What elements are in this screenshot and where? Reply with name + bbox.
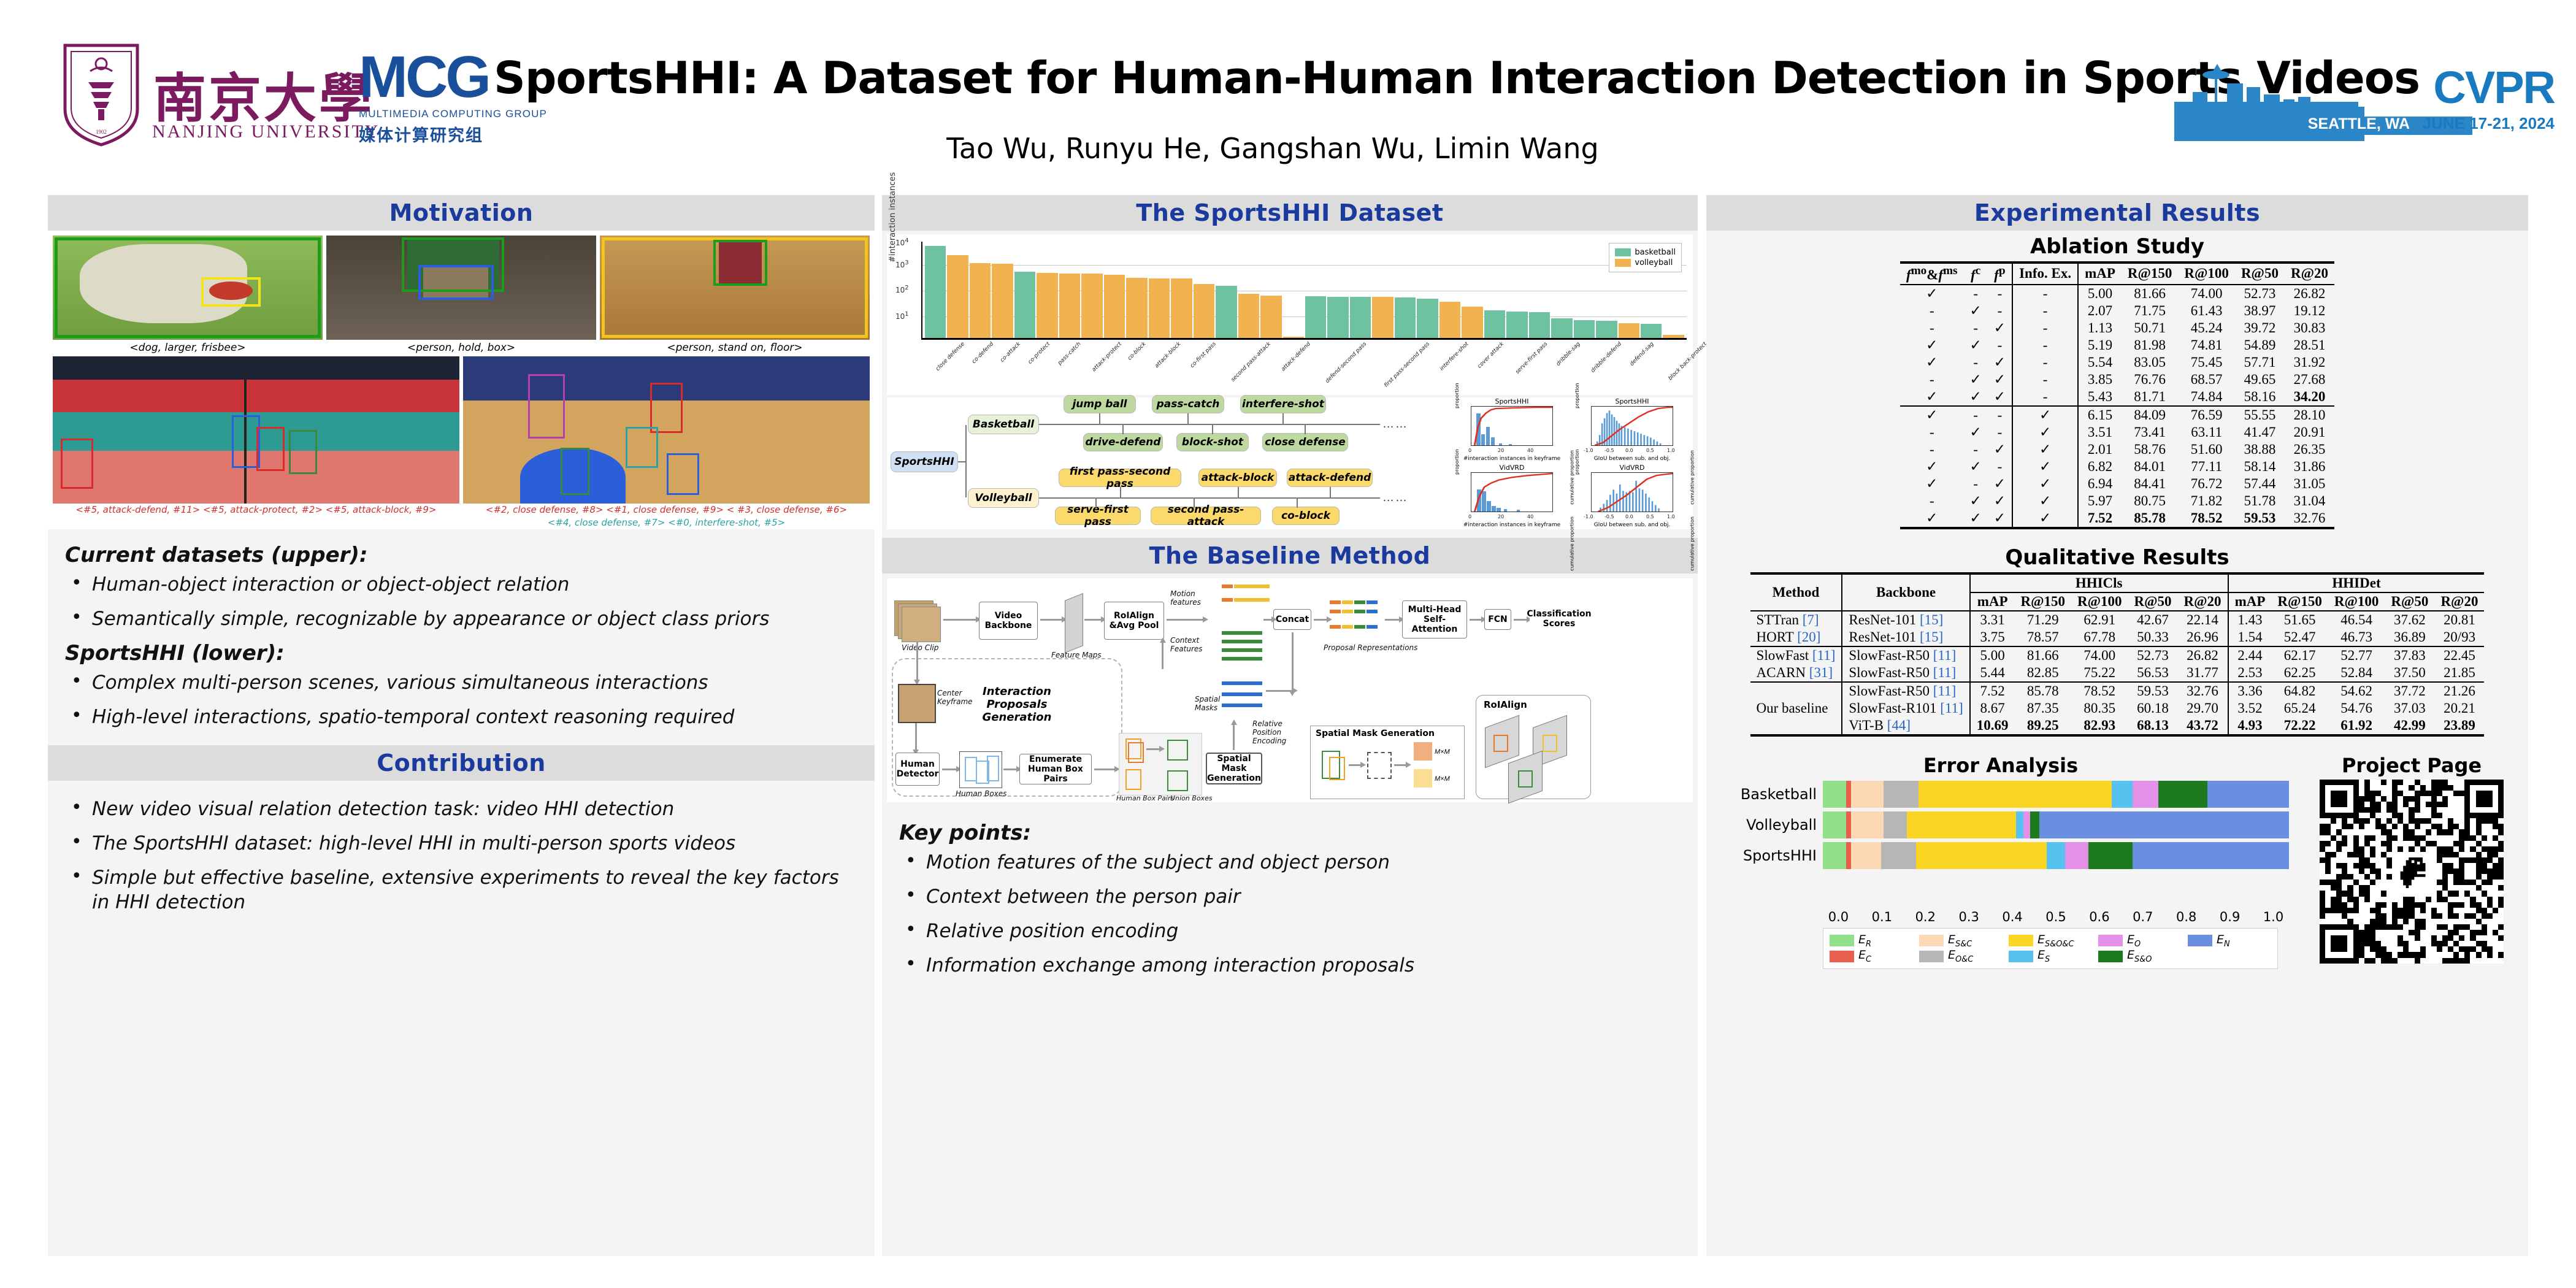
ablation-cell-2-4: 1.13	[2078, 320, 2122, 337]
ablation-row-13: ✓✓✓✓7.5285.7878.5259.5332.76	[1900, 510, 2334, 528]
contribution-bullet-1: The SportsHHI dataset: high-level HHI in…	[65, 831, 857, 856]
mini-plot-title-1: SportsHHI	[1575, 397, 1689, 405]
error-legend-label-E_S&C: ES&C	[1948, 933, 1972, 949]
ablation-col-head-6: R@100	[2178, 263, 2235, 285]
qual-det-4-1: 64.82	[2271, 682, 2328, 700]
error-legend-label-E_N: EN	[2217, 933, 2230, 949]
qual-row-1: HORT [20]ResNet-101 [15]3.7578.5767.7850…	[1750, 629, 2485, 646]
bbox-frisbee	[201, 277, 261, 307]
bbox-box	[418, 265, 494, 301]
bar-30	[1596, 321, 1617, 338]
error-legend-swatch-E_C	[1830, 951, 1854, 962]
ablation-cell-6-8: 34.20	[2285, 388, 2334, 406]
qual-sub-det-3: R@50	[2385, 592, 2434, 611]
qual-cls-4-0: 7.52	[1970, 682, 2015, 700]
ablation-cell-10-3: ✓	[2012, 458, 2078, 475]
error-analysis-title: Error Analysis	[1706, 754, 2295, 777]
ablation-row-5: -✓✓-3.8576.7668.5749.6527.68	[1900, 371, 2334, 388]
error-xtick-5: 0.5	[2034, 910, 2078, 924]
error-legend-item-0-3: EO	[2098, 933, 2182, 949]
ablation-cell-12-7: 51.78	[2235, 493, 2285, 510]
mini-plot-vidvrd-giou: VidVRD proportion cumulative proportion	[1575, 465, 1689, 527]
error-segment-0-3	[1884, 781, 1919, 808]
error-legend-swatch-E_R	[1830, 935, 1854, 946]
qual-det-3-1: 62.25	[2271, 664, 2328, 682]
ablation-cell-7-4: 6.15	[2078, 406, 2122, 424]
key-points-bullet-2: Relative position encoding	[899, 919, 1681, 943]
bbox-player-5	[256, 427, 285, 471]
context-feature-stack	[1222, 631, 1262, 662]
error-xtick-10: 1.0	[2252, 910, 2295, 924]
qual-det-0-3: 37.62	[2385, 611, 2434, 629]
taxonomy-leaf-vb-2: attack-defend	[1287, 469, 1373, 487]
qual-sub-det-4: R@20	[2434, 592, 2484, 611]
error-stacked-bar-1	[1823, 811, 2289, 838]
bar-8	[1104, 275, 1125, 338]
bbox-player-11	[61, 439, 93, 489]
qual-cls-6-4: 43.72	[2178, 717, 2228, 735]
human-boxes-thumbnail	[959, 751, 1002, 788]
mini-plot-xlabel-2: #interaction instances in keyframe	[1455, 522, 1569, 528]
error-segment-0-2	[1851, 781, 1884, 808]
error-legend-item-0-0: ER	[1830, 933, 1913, 949]
bar-17	[1305, 296, 1326, 338]
mini-plot-ylabel2-1: cumulative proportion	[1690, 450, 1695, 505]
ablation-cell-4-2: ✓	[1988, 354, 2012, 371]
ablation-col-head-5: R@150	[2122, 263, 2179, 285]
bar-7	[1081, 274, 1102, 338]
basketball-court-image	[463, 356, 870, 504]
ablation-cell-6-1: ✓	[1964, 388, 1988, 406]
mini-plot-area-3	[1591, 472, 1673, 512]
ablation-cell-1-6: 61.43	[2178, 302, 2235, 320]
section-title-motivation: Motivation	[389, 199, 534, 226]
distribution-mini-plots: SportsHHI proportion cumulative proporti…	[1455, 399, 1689, 527]
error-legend-swatch-E_S&O	[2098, 951, 2123, 962]
error-analysis-block: Error Analysis BasketballVolleyballSport…	[1706, 750, 2295, 970]
roialign-avgpool-box: RoIAlign &Avg Pool	[1104, 602, 1164, 640]
ablation-cell-9-8: 26.35	[2285, 441, 2334, 458]
ablation-cell-3-3: -	[2012, 337, 2078, 354]
ablation-cell-7-2: -	[1988, 406, 2012, 424]
qual-det-6-2: 61.92	[2328, 717, 2385, 735]
mini-plot-ylabel2-2: cumulative proportion	[1570, 516, 1575, 571]
error-legend-item-1-2: ES	[2009, 948, 2092, 964]
roialign-detail-panel: RoIAlign	[1476, 695, 1591, 799]
qual-cls-1-3: 50.33	[2128, 629, 2178, 646]
ablation-cell-13-7: 59.53	[2235, 510, 2285, 528]
qual-method-2: SlowFast [11]	[1750, 646, 1842, 664]
qual-det-5-2: 54.76	[2328, 700, 2385, 717]
motivation-image-box: <person, hold, box>	[326, 236, 596, 356]
taxonomy-leaf-bk-1: pass-catch	[1152, 395, 1224, 413]
page-title: SportsHHI: A Dataset for Human-Human Int…	[494, 52, 2052, 104]
ablation-cell-4-3: -	[2012, 354, 2078, 371]
error-segment-1-7	[2030, 811, 2039, 838]
qual-det-6-4: 23.89	[2434, 717, 2484, 735]
qual-sub-cls-3: R@50	[2128, 592, 2178, 611]
motivation-caption-1: <person, hold, box>	[326, 340, 596, 356]
ablation-cell-4-0: ✓	[1900, 354, 1963, 371]
mini-plot-sportshhi-instances: SportsHHI proportion cumulative proporti…	[1455, 399, 1569, 461]
bar-12	[1194, 284, 1214, 338]
bar-15	[1260, 296, 1281, 338]
qual-backbone-2: SlowFast-R50 [11]	[1842, 646, 1969, 664]
ablation-cell-2-8: 30.83	[2285, 320, 2334, 337]
ablation-cell-10-7: 58.14	[2235, 458, 2285, 475]
qual-det-3-0: 2.53	[2228, 664, 2272, 682]
qual-det-5-4: 20.21	[2434, 700, 2484, 717]
mini-plot-ylabel-2: proportion	[1454, 449, 1460, 475]
mcg-fullname: MULTIMEDIA COMPUTING GROUP	[359, 108, 547, 120]
qual-det-1-3: 36.89	[2385, 629, 2434, 646]
mini-plot-title-3: VidVRD	[1575, 464, 1689, 472]
qual-det-5-3: 37.03	[2385, 700, 2434, 717]
bar-2	[970, 263, 991, 338]
bar-16	[1283, 337, 1304, 338]
section-header-contribution: Contribution	[48, 745, 875, 781]
error-segment-0-5	[2112, 781, 2133, 808]
qual-method-4	[1750, 682, 1842, 700]
qual-cls-0-2: 62.91	[2071, 611, 2128, 629]
label-human-boxes: Human Boxes	[956, 789, 1006, 798]
ablation-cell-7-0: ✓	[1900, 406, 1963, 424]
ablation-cell-11-0: ✓	[1900, 475, 1963, 493]
mini-plot-area-2	[1471, 472, 1553, 512]
ablation-cell-12-1: ✓	[1964, 493, 1988, 510]
label-union-boxes: Union Boxes	[1170, 794, 1213, 802]
box-pairs-panel	[1119, 733, 1202, 795]
ablation-cell-11-1: -	[1964, 475, 1988, 493]
nanjing-university-shield-icon: 1902	[61, 42, 141, 147]
error-xtick-1: 0.1	[1860, 910, 1904, 924]
qual-cls-6-0: 10.69	[1970, 717, 2015, 735]
qual-det-2-1: 62.17	[2271, 646, 2328, 664]
column-left: Motivation <dog, larger, frisbee>	[48, 195, 875, 1256]
legend-item-volleyball: volleyball	[1615, 258, 1676, 267]
qual-det-4-2: 54.62	[2328, 682, 2385, 700]
ablation-cell-11-6: 76.72	[2178, 475, 2235, 493]
motivation-image-dog: <dog, larger, frisbee>	[53, 236, 323, 356]
ablation-cell-6-6: 74.84	[2178, 388, 2235, 406]
bar-0	[925, 246, 946, 338]
ablation-cell-13-3: ✓	[2012, 510, 2078, 528]
error-legend-item-1-3: ES&O	[2098, 948, 2182, 964]
motivation-bullet-current-1: Semantically simple, recognizable by app…	[65, 607, 857, 631]
ablation-cell-5-8: 27.68	[2285, 371, 2334, 388]
bar-10	[1149, 278, 1170, 338]
ablation-cell-10-8: 31.86	[2285, 458, 2334, 475]
ablation-cell-0-1: -	[1964, 285, 1988, 302]
ablation-cell-9-5: 58.76	[2122, 441, 2179, 458]
qual-det-2-0: 2.44	[2228, 646, 2272, 664]
error-legend-row-0: ERES&CES&O&CEOEN	[1830, 933, 2271, 949]
error-segment-2-7	[2088, 842, 2133, 869]
key-points-bullet-3: Information exchange among interaction p…	[899, 953, 1681, 978]
ablation-cell-7-3: ✓	[2012, 406, 2078, 424]
qualitative-results-title: Qualitative Results	[1706, 545, 2528, 570]
label-video-clip: Video Clip	[902, 643, 938, 652]
ablation-cell-9-1: -	[1964, 441, 1988, 458]
qual-det-0-2: 46.54	[2328, 611, 2385, 629]
multihead-self-attention-box: Multi-Head Self-Attention	[1402, 600, 1467, 638]
ablation-cell-8-4: 3.51	[2078, 424, 2122, 441]
mini-plot-ylabel-0: proportion	[1454, 383, 1460, 408]
ablation-cell-10-4: 6.82	[2078, 458, 2122, 475]
label-relative-position-encoding: Relative Position Encoding	[1252, 719, 1303, 745]
human-detector-box: Human Detector	[895, 753, 940, 786]
qual-sub-cls-4: R@20	[2178, 592, 2228, 611]
error-legend-label-E_R: ER	[1858, 933, 1871, 949]
ablation-cell-5-0: -	[1900, 371, 1963, 388]
ablation-cell-2-2: ✓	[1988, 320, 2012, 337]
key-points-lead: Key points:	[899, 821, 1681, 845]
qual-cls-6-2: 82.93	[2071, 717, 2128, 735]
bar-9	[1126, 278, 1147, 338]
ablation-cell-3-8: 28.51	[2285, 337, 2334, 354]
qualitative-results-table: MethodBackboneHHIClsHHIDetmAPR@150R@100R…	[1750, 572, 2485, 737]
qual-backbone-4: SlowFast-R50 [11]	[1842, 682, 1969, 700]
key-points-bullet-0: Motion features of the subject and objec…	[899, 850, 1681, 875]
poster-root: 1902 南京大學 NANJING UNIVERSITY MCG MULTIME…	[0, 0, 2576, 1288]
qual-cls-4-4: 32.76	[2178, 682, 2228, 700]
mini-plot-area-0	[1471, 406, 1553, 446]
qual-head-method: Method	[1750, 573, 1842, 611]
taxonomy-leaf-bk-4: block-shot	[1176, 433, 1249, 451]
ablation-cell-11-2: ✓	[1988, 475, 2012, 493]
nanjing-university-english-name: NANJING UNIVERSITY	[152, 121, 380, 142]
bar-32	[1641, 324, 1662, 338]
ablation-cell-0-7: 52.73	[2235, 285, 2285, 302]
key-points-block: Key points: Motion features of the subje…	[882, 807, 1698, 994]
error-legend-item-0-4: EN	[2188, 933, 2271, 949]
qual-method-3: ACARN [31]	[1750, 664, 1842, 682]
error-segment-1-8	[2039, 811, 2289, 838]
taxonomy-leaf-vb-1: attack-block	[1198, 469, 1277, 487]
bar-chart-ylabel: #interaction instances	[888, 172, 897, 263]
ablation-cell-8-2: -	[1988, 424, 2012, 441]
error-legend-label-E_S: ES	[2037, 948, 2050, 964]
mini-plot-xlabel-1: GIoU between sub. and obj.	[1575, 456, 1689, 462]
project-page-qr-code[interactable]	[2320, 780, 2504, 964]
ablation-row-4: ✓-✓-5.5483.0575.4557.7131.92	[1900, 354, 2334, 371]
bar-chart-legend: basketball volleyball	[1609, 243, 1682, 272]
bbox-bb-7	[626, 427, 658, 468]
bbox-player-2	[289, 430, 317, 474]
ablation-col-head-2: fp	[1988, 263, 2012, 285]
ablation-cell-6-5: 81.71	[2122, 388, 2179, 406]
feature-maps-icon	[1065, 593, 1083, 653]
error-xtick-3: 0.3	[1947, 910, 1991, 924]
qual-cls-1-4: 26.96	[2178, 629, 2228, 646]
ablation-cell-2-3: -	[2012, 320, 2078, 337]
qual-det-2-3: 37.83	[2385, 646, 2434, 664]
qual-det-0-1: 51.65	[2271, 611, 2328, 629]
ablation-cell-13-4: 7.52	[2078, 510, 2122, 528]
ablation-cell-5-6: 68.57	[2178, 371, 2235, 388]
error-xtick-0: 0.0	[1817, 910, 1860, 924]
ablation-cell-11-8: 31.05	[2285, 475, 2334, 493]
ablation-cell-0-0: ✓	[1900, 285, 1963, 302]
bottom-row: Error Analysis BasketballVolleyballSport…	[1706, 750, 2528, 970]
qual-cls-1-0: 3.75	[1970, 629, 2015, 646]
concat-box: Concat	[1273, 609, 1311, 630]
qual-method-1: HORT [20]	[1750, 629, 1842, 646]
ablation-cell-1-5: 71.75	[2122, 302, 2179, 320]
qual-cls-2-0: 5.00	[1970, 646, 2015, 664]
qual-row-6: ViT-B [44]10.6989.2582.9368.1343.724.937…	[1750, 717, 2485, 735]
legend-swatch-volleyball	[1615, 259, 1631, 267]
ablation-cell-1-0: -	[1900, 302, 1963, 320]
ablation-cell-4-1: -	[1964, 354, 1988, 371]
bar-27	[1529, 312, 1550, 338]
motivation-image-volleyball: <#5, attack-defend, #11> <#5, attack-pro…	[53, 356, 459, 529]
poster-header: 1902 南京大學 NANJING UNIVERSITY MCG MULTIME…	[0, 0, 2576, 184]
error-legend-item-1-1: EO&C	[1919, 948, 2003, 964]
interaction-proposals-title: Interaction Proposals Generation	[956, 686, 1078, 722]
motivation-basketball-caption-1: <#2, close defense, #8> <#1, close defen…	[463, 504, 870, 516]
qual-det-2-2: 52.77	[2328, 646, 2385, 664]
ablation-cell-2-1: -	[1964, 320, 1988, 337]
person-stand-on-floor-image	[600, 236, 870, 340]
taxonomy-ellipsis-basketball: ……	[1382, 418, 1408, 431]
qual-backbone-0: ResNet-101 [15]	[1842, 611, 1969, 629]
ablation-cell-7-5: 84.09	[2122, 406, 2179, 424]
ablation-cell-1-7: 38.97	[2235, 302, 2285, 320]
ablation-cell-5-7: 49.65	[2235, 371, 2285, 388]
taxonomy-leaf-vb-0: first pass-second pass	[1059, 469, 1181, 487]
ablation-row-3: ✓✓--5.1981.9874.8154.8928.51	[1900, 337, 2334, 354]
ablation-cell-6-7: 58.16	[2235, 388, 2285, 406]
ablation-cell-9-4: 2.01	[2078, 441, 2122, 458]
qual-det-1-1: 52.47	[2271, 629, 2328, 646]
bar-21	[1395, 297, 1416, 338]
bar-33	[1663, 335, 1684, 338]
bar-14	[1238, 294, 1259, 338]
ablation-row-6: ✓✓✓-5.4381.7174.8458.1634.20	[1900, 388, 2334, 406]
ablation-cell-0-6: 74.00	[2178, 285, 2235, 302]
section-title-experimental: Experimental Results	[1974, 199, 2260, 226]
qual-det-4-0: 3.36	[2228, 682, 2272, 700]
error-legend-swatch-E_N	[2188, 935, 2212, 946]
qual-det-0-4: 20.81	[2434, 611, 2484, 629]
qual-cls-5-1: 87.35	[2015, 700, 2072, 717]
error-xtick-6: 0.6	[2077, 910, 2121, 924]
ablation-cell-11-4: 6.94	[2078, 475, 2122, 493]
motivation-bottom-images: <#5, attack-defend, #11> <#5, attack-pro…	[48, 356, 875, 529]
motivation-caption-0: <dog, larger, frisbee>	[53, 340, 323, 356]
ablation-cell-12-3: ✓	[2012, 493, 2078, 510]
error-segment-0-4	[1919, 781, 2112, 808]
error-legend-item-1-0: EC	[1830, 948, 1913, 964]
ablation-cell-13-1: ✓	[1964, 510, 1988, 528]
ablation-cell-2-5: 50.71	[2122, 320, 2179, 337]
error-legend-swatch-E_S	[2009, 951, 2033, 962]
qual-cls-4-2: 78.52	[2071, 682, 2128, 700]
error-row-label-1: Volleyball	[1712, 816, 1823, 834]
qual-sub-cls-1: R@150	[2015, 592, 2072, 611]
ablation-row-9: --✓✓2.0158.7651.6038.8826.35	[1900, 441, 2334, 458]
ablation-cell-4-7: 57.71	[2235, 354, 2285, 371]
ablation-cell-13-0: ✓	[1900, 510, 1963, 528]
qual-row-2: SlowFast [11]SlowFast-R50 [11]5.0081.667…	[1750, 646, 2485, 664]
error-segment-2-4	[1916, 842, 2047, 869]
error-stacked-bar-2	[1823, 842, 2289, 869]
qual-cls-0-0: 3.31	[1970, 611, 2015, 629]
error-xtick-9: 0.9	[2208, 910, 2252, 924]
error-segment-2-0	[1823, 842, 1846, 869]
qual-cls-1-2: 67.78	[2071, 629, 2128, 646]
ablation-cell-7-8: 28.10	[2285, 406, 2334, 424]
taxonomy-node-root: SportsHHI	[891, 451, 958, 472]
bbox-person-2	[713, 240, 767, 286]
qual-cls-4-1: 85.78	[2015, 682, 2072, 700]
motivation-lead-current: Current datasets (upper):	[65, 543, 857, 567]
qual-method-6	[1750, 717, 1842, 735]
ablation-cell-0-8: 26.82	[2285, 285, 2334, 302]
section-header-dataset: The SportsHHI Dataset	[882, 195, 1698, 231]
error-segment-1-4	[1907, 811, 2017, 838]
qual-cls-6-1: 89.25	[2015, 717, 2072, 735]
key-points-bullet-1: Context between the person pair	[899, 884, 1681, 909]
ablation-cell-10-0: ✓	[1900, 458, 1963, 475]
dataset-distribution-chart-panel: #interaction instances 101 102 103 104 c…	[887, 234, 1693, 395]
taxonomy-leaf-vb-3: serve-first pass	[1055, 507, 1141, 525]
ablation-cell-8-6: 63.11	[2178, 424, 2235, 441]
svg-text:1902: 1902	[96, 129, 107, 135]
qual-cls-0-1: 71.29	[2015, 611, 2072, 629]
qual-cls-3-2: 75.22	[2071, 664, 2128, 682]
bar-6	[1059, 274, 1080, 338]
ablation-cell-13-8: 32.76	[2285, 510, 2334, 528]
legend-item-basketball: basketball	[1615, 248, 1676, 257]
qual-det-3-2: 52.84	[2328, 664, 2385, 682]
ablation-cell-1-3: -	[2012, 302, 2078, 320]
column-middle: The SportsHHI Dataset #interaction insta…	[882, 195, 1698, 1256]
qual-cls-5-4: 29.70	[2178, 700, 2228, 717]
qual-sub-det-2: R@100	[2328, 592, 2385, 611]
mxm-label-b: M×M	[1435, 775, 1450, 783]
bbox-bb-1	[561, 448, 589, 495]
project-page-block: Project Page	[2295, 750, 2528, 970]
error-legend-swatch-E_S&O&C	[2009, 935, 2033, 946]
qual-cls-3-4: 31.77	[2178, 664, 2228, 682]
ablation-cell-8-5: 73.41	[2122, 424, 2179, 441]
motivation-text-block: Current datasets (upper): Human-object i…	[48, 529, 875, 745]
qual-cls-3-1: 82.85	[2015, 664, 2072, 682]
error-stacked-bar-0	[1823, 781, 2289, 808]
bar-24	[1462, 307, 1482, 338]
ablation-cell-11-3: ✓	[2012, 475, 2078, 493]
ablation-cell-1-4: 2.07	[2078, 302, 2122, 320]
ablation-cell-8-7: 41.47	[2235, 424, 2285, 441]
taxonomy-leaf-bk-5: close defense	[1262, 433, 1348, 451]
person-hold-box-image	[326, 236, 596, 340]
ablation-cell-0-4: 5.00	[2078, 285, 2122, 302]
qual-head-hhidet: HHIDet	[2228, 573, 2485, 592]
spatial-mask-panel-title: Spatial Mask Generation	[1316, 729, 1435, 738]
error-segment-1-5	[2016, 811, 2023, 838]
ablation-cell-8-1: ✓	[1964, 424, 1988, 441]
taxonomy-ellipsis-volleyball: ……	[1382, 491, 1408, 505]
bar-25	[1484, 310, 1505, 338]
cvpr-logo: SEATTLE, WA CVPR JUNE 17-21, 2024	[2174, 48, 2561, 146]
qual-det-3-3: 37.50	[2385, 664, 2434, 682]
ablation-cell-12-8: 31.04	[2285, 493, 2334, 510]
error-segment-2-2	[1851, 842, 1881, 869]
error-legend-label-E_S&O: ES&O	[2127, 948, 2152, 964]
ablation-col-head-8: R@20	[2285, 263, 2334, 285]
